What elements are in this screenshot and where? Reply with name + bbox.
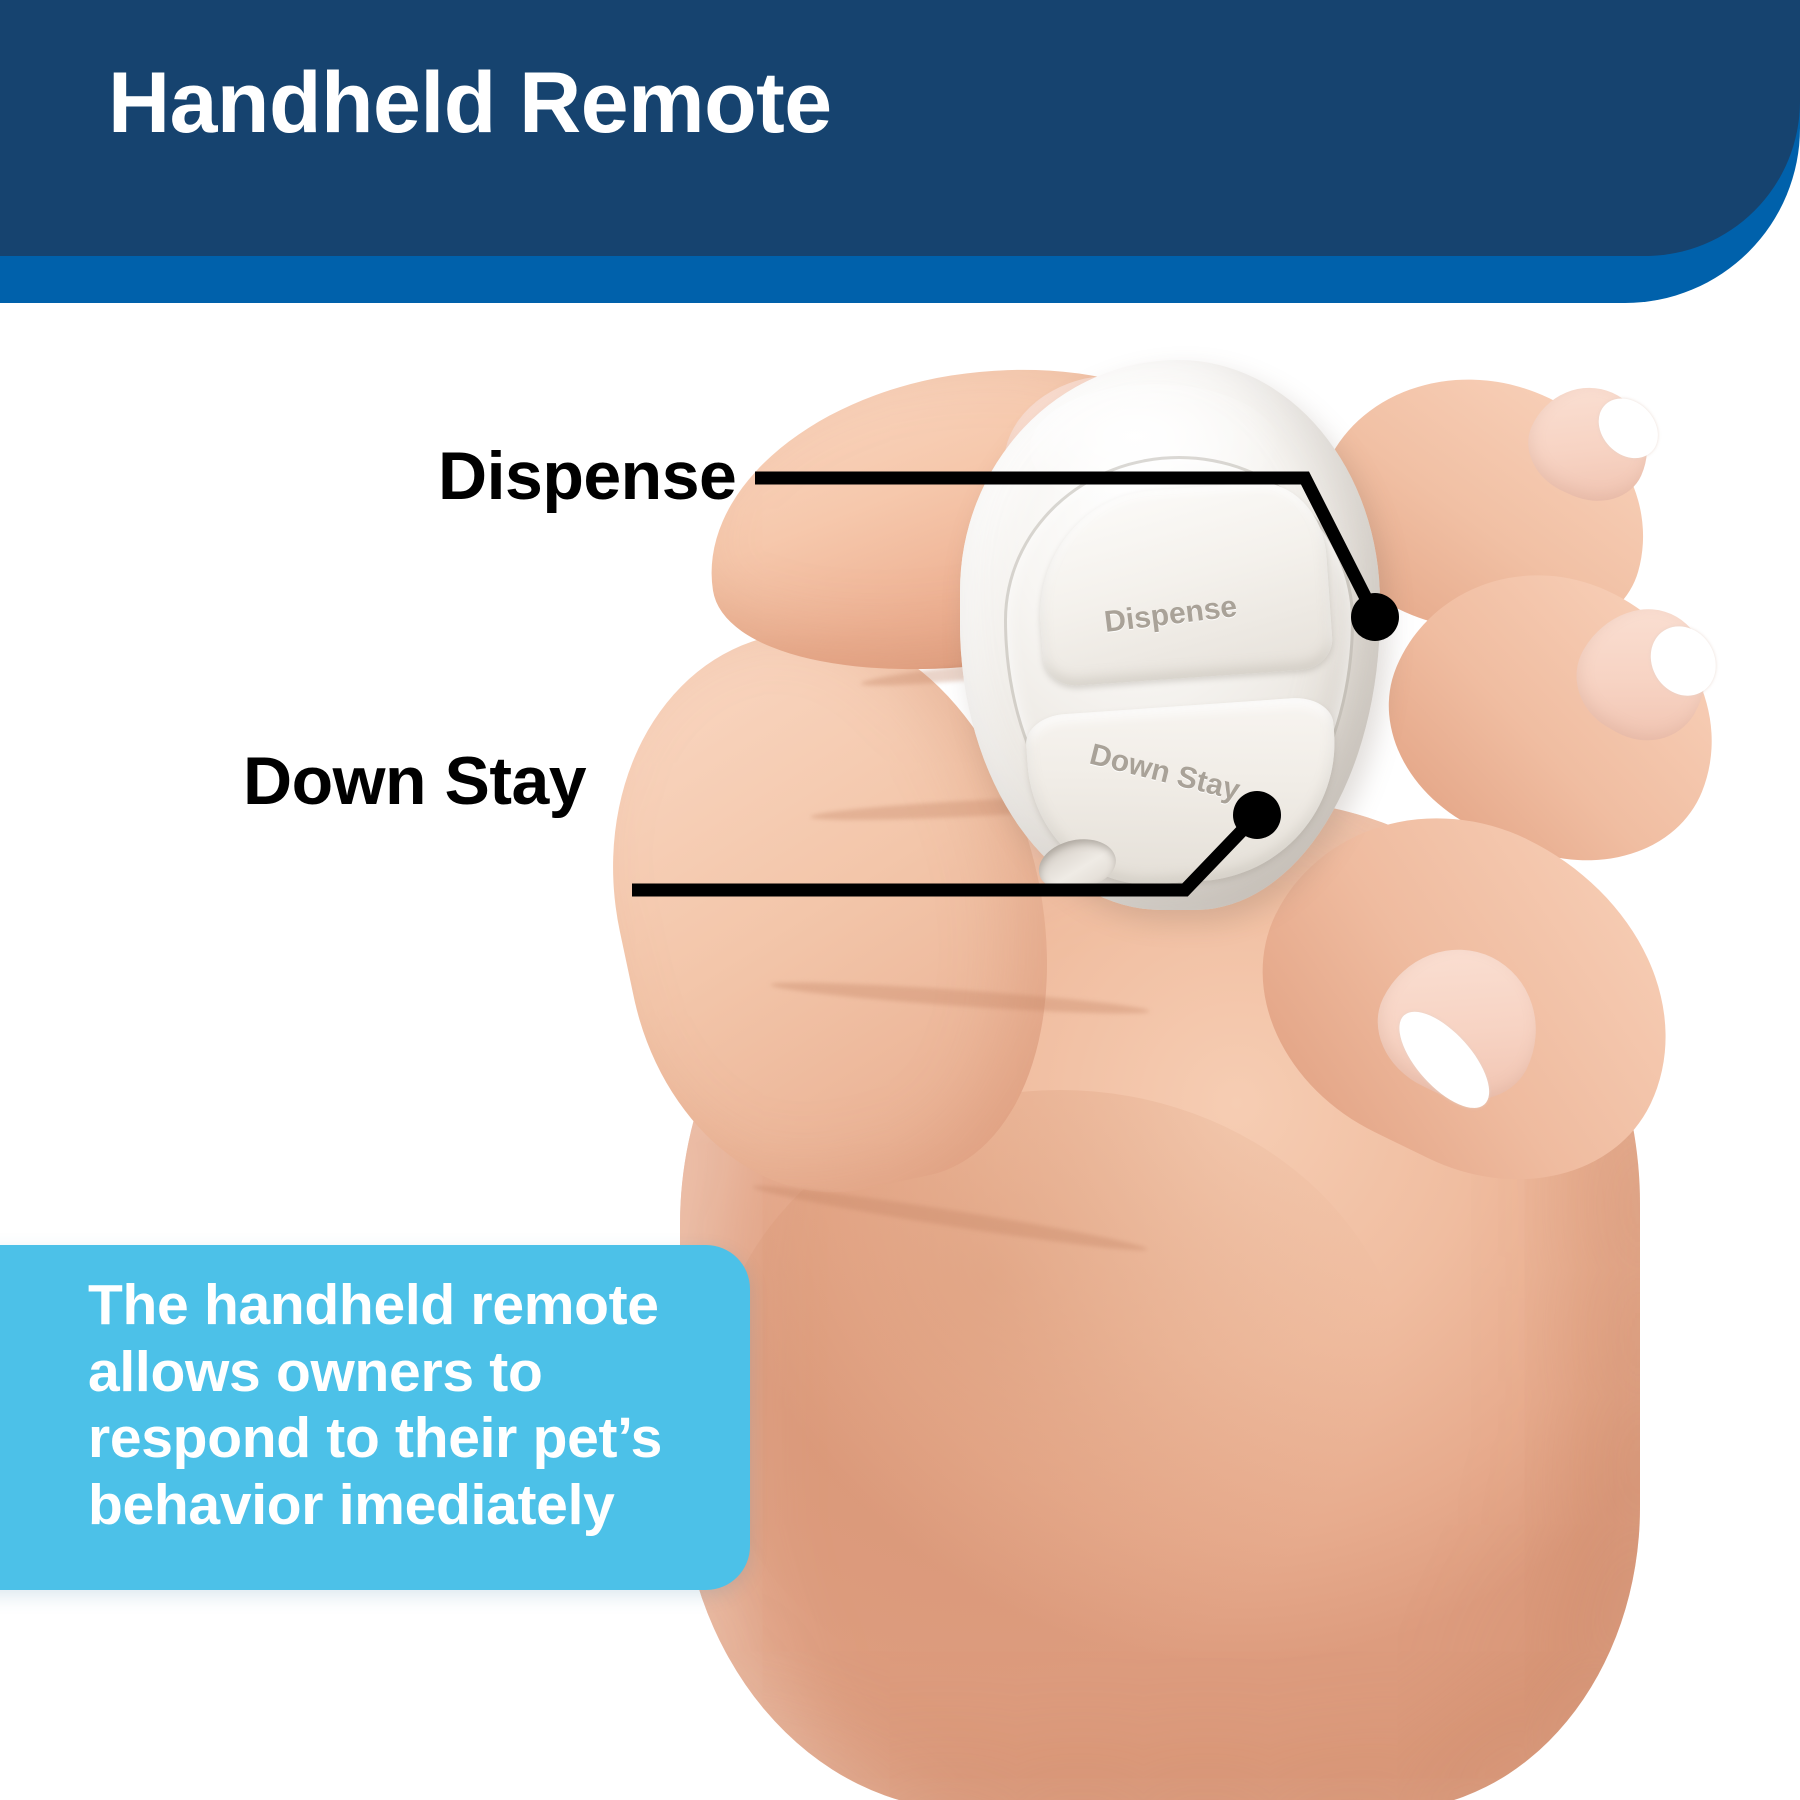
callout-label-down-stay: Down Stay [243,742,586,820]
fingernail-tip [1587,387,1670,471]
infographic-canvas: Handheld Remote [0,0,1800,1800]
callout-label-dispense: Dispense [438,437,736,515]
product-photo-hand-holding-remote: Dispense Down Stay [560,330,1800,1800]
page-title: Handheld Remote [108,60,832,146]
fingernail-tip [1638,614,1729,708]
handheld-remote-device[interactable]: Dispense Down Stay [960,360,1380,910]
caption-text: The handheld remote allows owners to res… [88,1272,748,1539]
